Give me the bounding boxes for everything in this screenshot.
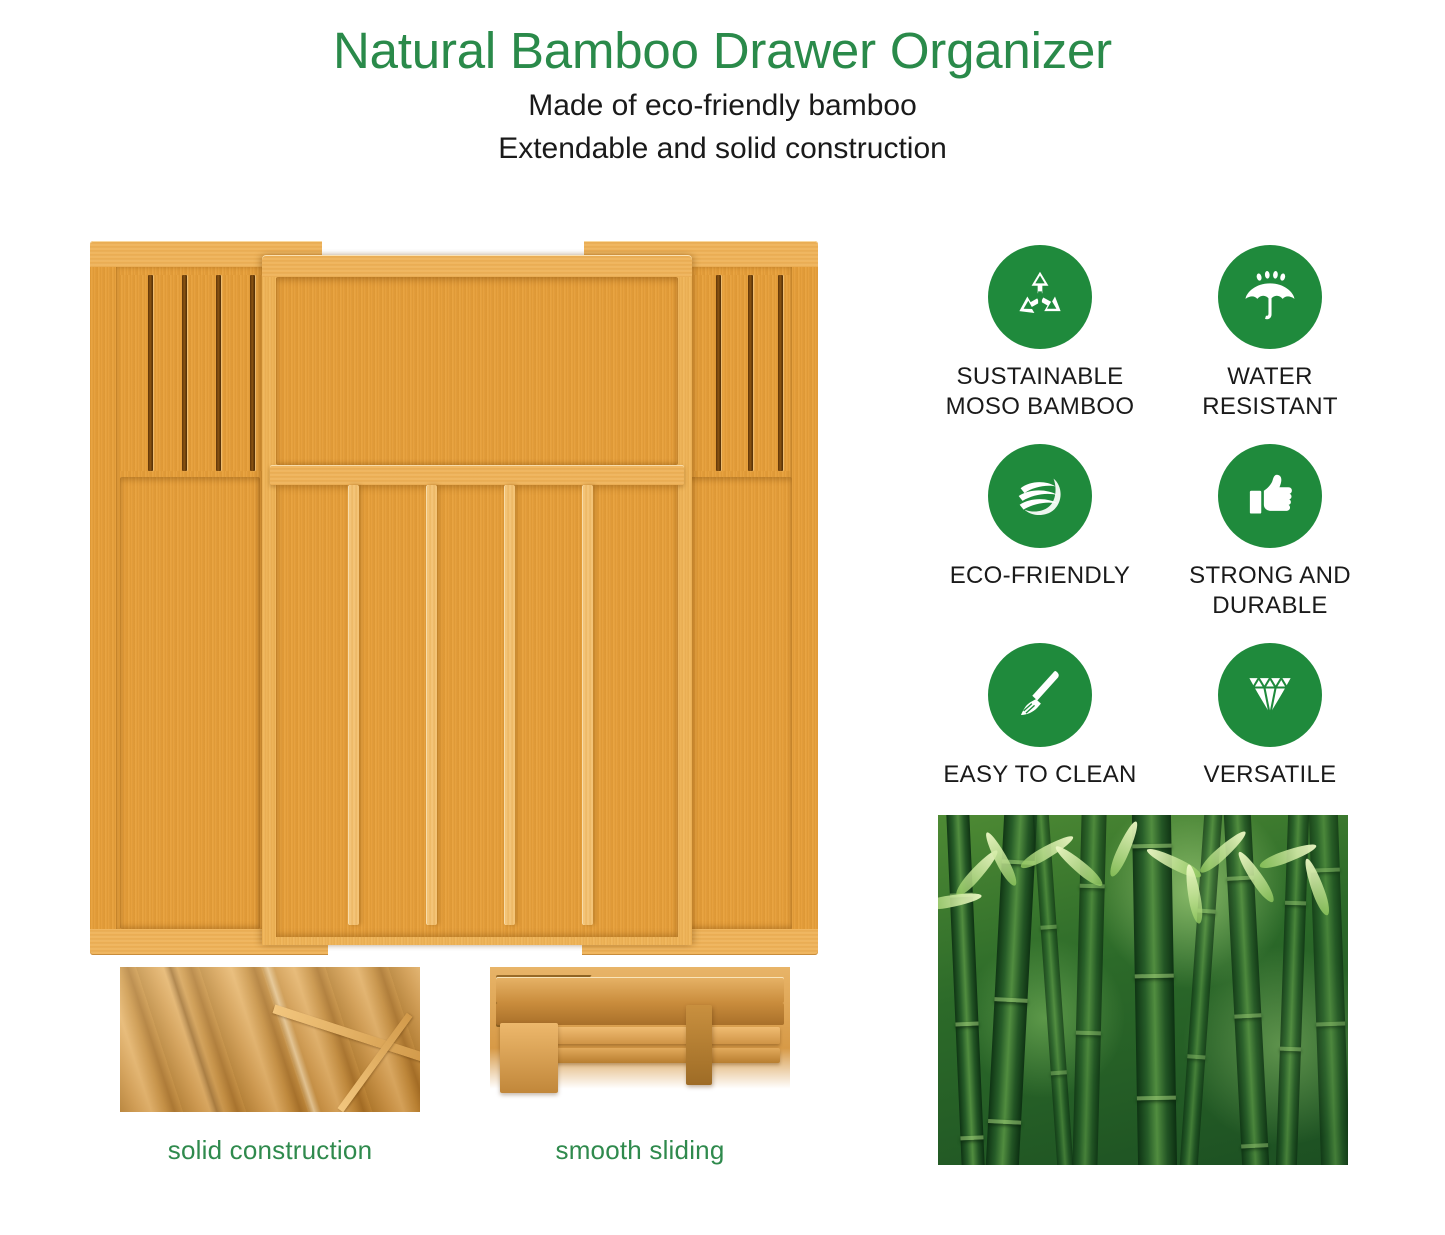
feature-label-line: EASY TO CLEAN (943, 760, 1136, 790)
feature-label: EASY TO CLEAN (943, 760, 1136, 790)
cutlery-divider (348, 485, 359, 925)
detail-photo-smooth-sliding (490, 967, 790, 1112)
subtitle-line-2: Extendable and solid construction (0, 128, 1445, 171)
page-header: Natural Bamboo Drawer Organizer Made of … (0, 0, 1445, 170)
rail-end-block-right (686, 1005, 712, 1085)
detail-photo-solid-construction (120, 967, 420, 1112)
feature-label: WATER RESISTANT (1202, 362, 1338, 422)
recycle-icon (1010, 267, 1070, 327)
knife-slot (716, 275, 721, 471)
upper-compartment (276, 277, 678, 465)
subtitle-line-1: Made of eco-friendly bamboo (0, 85, 1445, 128)
side-channel-left (120, 477, 260, 929)
bamboo-forest-photo (938, 815, 1348, 1165)
feature-label-line: DURABLE (1189, 591, 1351, 621)
feature-water-resistant: WATER RESISTANT (1160, 245, 1380, 422)
sliding-rail-photo (490, 967, 790, 1112)
feature-label-line: STRONG AND (1189, 561, 1351, 591)
feature-badge (1218, 444, 1322, 548)
feature-label: STRONG AND DURABLE (1189, 561, 1351, 621)
feature-label-line: SUSTAINABLE (946, 362, 1135, 392)
feature-label: SUSTAINABLE MOSO BAMBOO (946, 362, 1135, 422)
diamond-icon (1240, 665, 1300, 725)
feature-grid: SUSTAINABLE MOSO BAMBOO (930, 245, 1380, 790)
leaf-icon (1009, 465, 1071, 527)
page-title: Natural Bamboo Drawer Organizer (0, 22, 1445, 79)
rail-mid-wall (496, 1003, 784, 1025)
feature-badge (988, 643, 1092, 747)
inner-tray-rim (262, 255, 692, 277)
feature-label-line: WATER (1202, 362, 1338, 392)
broom-icon (1011, 666, 1069, 724)
cutlery-divider (426, 485, 437, 925)
knife-slot (748, 275, 753, 471)
feature-label: ECO-FRIENDLY (950, 561, 1131, 591)
feature-label-line: ECO-FRIENDLY (950, 561, 1131, 591)
cutlery-divider (504, 485, 515, 925)
slide-rail-upper (554, 1027, 780, 1044)
thumbs-up-icon (1242, 468, 1298, 524)
feature-badge (1218, 643, 1322, 747)
knife-slot (778, 275, 783, 471)
lower-compartment-area (276, 485, 678, 937)
rail-end-block-left (500, 1023, 558, 1093)
feature-sustainable-moso-bamboo: SUSTAINABLE MOSO BAMBOO (930, 245, 1150, 422)
umbrella-icon (1241, 268, 1299, 326)
feature-label-line: MOSO BAMBOO (946, 392, 1135, 422)
knife-slot (250, 275, 255, 471)
knife-slot (216, 275, 221, 471)
feature-easy-to-clean: EASY TO CLEAN (930, 643, 1150, 790)
detail-photo-row: solid construction smooth sliding (120, 967, 820, 1197)
knife-slot (182, 275, 187, 471)
feature-label: VERSATILE (1204, 760, 1337, 790)
detail-caption-solid-construction: solid construction (120, 1135, 420, 1166)
feature-label-line: RESISTANT (1202, 392, 1338, 422)
feature-eco-friendly: ECO-FRIENDLY (930, 444, 1150, 621)
feature-badge (1218, 245, 1322, 349)
cutlery-divider (582, 485, 593, 925)
inner-sliding-tray (262, 255, 692, 945)
content-area: solid construction smooth sliding (0, 205, 1445, 1235)
feature-badge (988, 444, 1092, 548)
feature-versatile: VERSATILE (1160, 643, 1380, 790)
rail-top-wall (496, 977, 784, 1003)
detail-caption-smooth-sliding: smooth sliding (490, 1135, 790, 1166)
feature-label-line: VERSATILE (1204, 760, 1337, 790)
feature-strong-and-durable: STRONG AND DURABLE (1160, 444, 1380, 621)
knife-slot (148, 275, 153, 471)
product-hero-image (90, 225, 818, 955)
slide-rail-lower (554, 1048, 780, 1063)
feature-badge (988, 245, 1092, 349)
cross-divider-rail (270, 465, 684, 485)
